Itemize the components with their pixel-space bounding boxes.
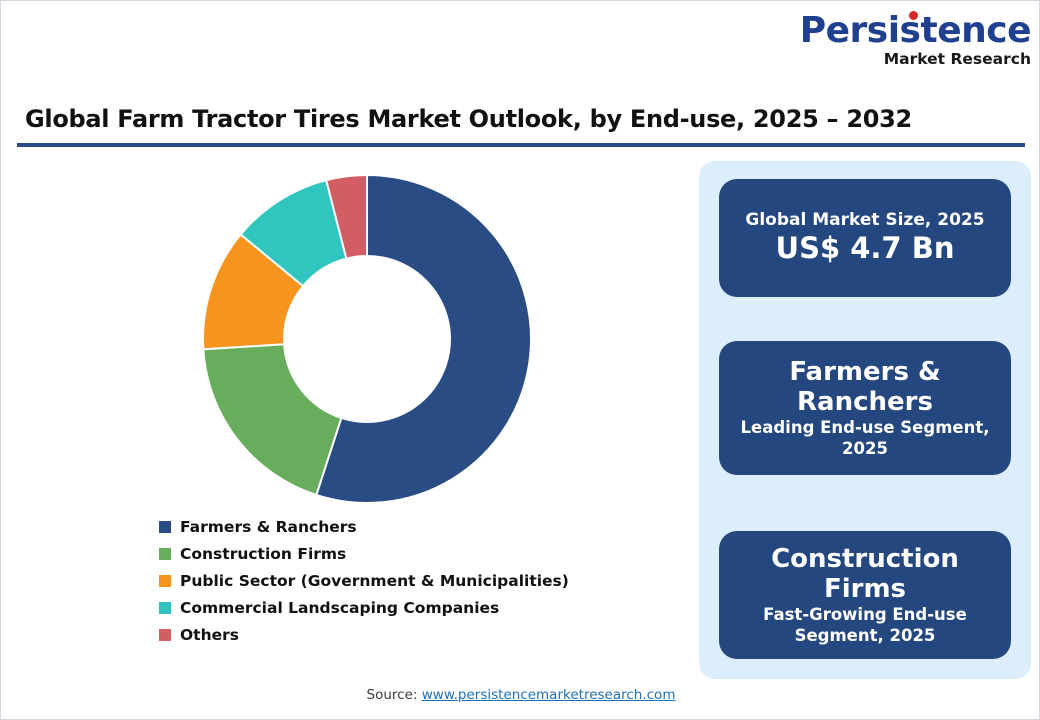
- title-divider: [17, 143, 1025, 147]
- legend-item: Public Sector (Government & Municipaliti…: [159, 567, 679, 594]
- chart-legend: Farmers & RanchersConstruction FirmsPubl…: [159, 513, 679, 648]
- legend-swatch-icon: [159, 629, 171, 641]
- legend-item: Others: [159, 621, 679, 648]
- brand-logo: Persistence Market Research: [813, 9, 1031, 71]
- card-market-size-value: US$ 4.7 Bn: [776, 230, 955, 266]
- legend-label: Commercial Landscaping Companies: [180, 599, 499, 617]
- legend-swatch-icon: [159, 602, 171, 614]
- legend-label: Construction Firms: [180, 545, 346, 563]
- donut-chart: [201, 173, 533, 505]
- donut-svg: [201, 173, 533, 505]
- card-market-size-label: Global Market Size, 2025: [745, 210, 984, 230]
- legend-swatch-icon: [159, 548, 171, 560]
- card-leading-segment-sub-line1: Leading End-use Segment,: [741, 418, 990, 439]
- chart-area: [17, 161, 689, 541]
- card-leading-segment-value-line2: Ranchers: [797, 387, 933, 418]
- card-leading-segment-sub-line2: 2025: [842, 439, 888, 460]
- legend-item: Farmers & Ranchers: [159, 513, 679, 540]
- card-fastest-segment-sub-line2: Segment, 2025: [795, 626, 936, 647]
- legend-item: Construction Firms: [159, 540, 679, 567]
- donut-slice: [203, 344, 341, 495]
- card-leading-segment: Farmers & Ranchers Leading End-use Segme…: [719, 341, 1011, 475]
- legend-label: Public Sector (Government & Municipaliti…: [180, 572, 569, 590]
- source-footer: Source: www.persistencemarketresearch.co…: [1, 687, 1040, 703]
- card-fastest-segment-value: Construction Firms: [733, 544, 997, 605]
- card-fastest-segment-sub-line1: Fast-Growing End-use: [763, 605, 967, 626]
- brand-tagline: Market Research: [884, 52, 1031, 68]
- card-fastest-segment: Construction Firms Fast-Growing End-use …: [719, 531, 1011, 659]
- legend-item: Commercial Landscaping Companies: [159, 594, 679, 621]
- legend-swatch-icon: [159, 521, 171, 533]
- chart-page: Persistence Market Research Global Farm …: [0, 0, 1040, 720]
- source-link[interactable]: www.persistencemarketresearch.com: [422, 687, 676, 703]
- highlights-panel: Global Market Size, 2025 US$ 4.7 Bn Farm…: [699, 161, 1031, 679]
- brand-dot-icon: [909, 11, 918, 20]
- legend-label: Farmers & Ranchers: [180, 518, 357, 536]
- card-leading-segment-value-line1: Farmers &: [789, 357, 940, 388]
- legend-swatch-icon: [159, 575, 171, 587]
- source-label: Source:: [367, 687, 418, 703]
- card-market-size: Global Market Size, 2025 US$ 4.7 Bn: [719, 179, 1011, 297]
- page-title: Global Farm Tractor Tires Market Outlook…: [25, 105, 1015, 133]
- legend-label: Others: [180, 626, 239, 644]
